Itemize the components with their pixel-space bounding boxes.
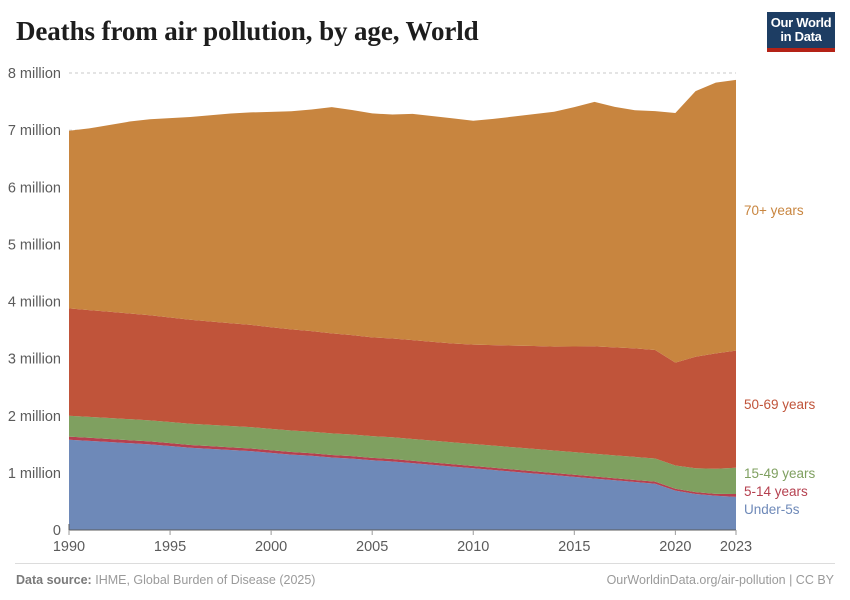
y-axis-tick-label: 4 million — [8, 295, 61, 311]
series-label-70-years[interactable]: 70+ years — [744, 203, 804, 218]
footer-divider — [15, 563, 835, 564]
data-source-text: IHME, Global Burden of Disease (2025) — [95, 573, 315, 587]
series-label-5-14-years[interactable]: 5-14 years — [744, 484, 808, 499]
x-axis-tick-labels: 19901995200020052010201520202023 — [53, 539, 752, 555]
series-inline-labels[interactable]: 70+ years50-69 years15-49 years5-14 year… — [744, 203, 816, 517]
area-series-group[interactable] — [69, 80, 736, 530]
data-source-prefix: Data source: — [16, 573, 92, 587]
y-axis-tick-labels: 01 million2 million3 million4 million5 m… — [8, 66, 61, 539]
data-source: Data source: IHME, Global Burden of Dise… — [16, 573, 315, 587]
y-axis-tick-label: 3 million — [8, 352, 61, 368]
x-axis-tick-label: 2020 — [659, 539, 691, 555]
y-axis-tick-label: 7 million — [8, 123, 61, 139]
y-axis-tick-label: 8 million — [8, 66, 61, 82]
y-axis-tick-label: 2 million — [8, 409, 61, 425]
x-axis-tick-label: 2005 — [356, 539, 388, 555]
y-axis-tick-label: 5 million — [8, 237, 61, 253]
chart-root: Deaths from air pollution, by age, World… — [0, 0, 850, 600]
x-axis-tick-label: 2015 — [558, 539, 590, 555]
x-axis-tick-label: 1995 — [154, 539, 186, 555]
x-axis-tick-label: 1990 — [53, 539, 85, 555]
x-axis-tick-label: 2010 — [457, 539, 489, 555]
x-axis-tick-label: 2023 — [720, 539, 752, 555]
series-label-15-49-years[interactable]: 15-49 years — [744, 466, 816, 481]
stacked-area-chart[interactable]: 01 million2 million3 million4 million5 m… — [0, 0, 850, 600]
y-axis-tick-label: 6 million — [8, 180, 61, 196]
series-label-50-69-years[interactable]: 50-69 years — [744, 397, 816, 412]
series-label-under-5s[interactable]: Under-5s — [744, 502, 800, 517]
attribution-link[interactable]: OurWorldinData.org/air-pollution | CC BY — [607, 573, 834, 587]
y-axis-tick-label: 0 — [53, 523, 61, 539]
y-axis-tick-label: 1 million — [8, 466, 61, 482]
x-axis-tick-label: 2000 — [255, 539, 287, 555]
